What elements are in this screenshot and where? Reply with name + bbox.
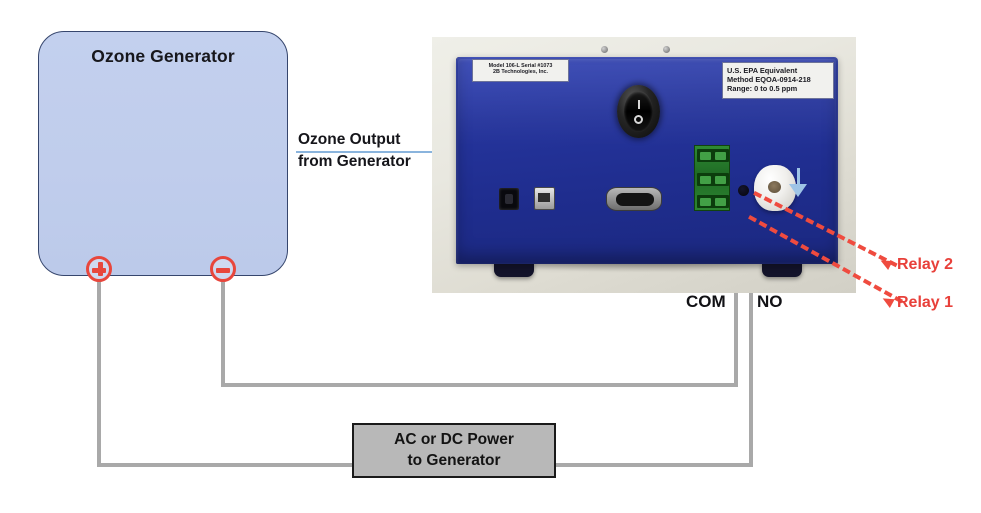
epa-label-line2: Method EQOA-0914-218	[727, 75, 829, 84]
panel-screw-hole	[738, 185, 749, 196]
relay-terminal-block	[694, 145, 730, 211]
wire-negative-horizontal	[221, 383, 738, 387]
ozone-generator-box: Ozone Generator	[38, 31, 288, 276]
relay-1-label: Relay 1	[897, 294, 953, 312]
wire-positive-vertical	[97, 280, 101, 467]
ozone-generator-title: Ozone Generator	[39, 46, 287, 67]
device-epa-label: U.S. EPA Equivalent Method EQOA-0914-218…	[722, 62, 834, 99]
plus-bar-vertical	[98, 262, 103, 276]
ozone-inlet-arrow-head	[789, 184, 807, 197]
ozone-output-line2: from Generator	[298, 151, 448, 173]
power-label-line1: AC or DC Power	[394, 430, 514, 450]
diagram-canvas: AC or DC Power to Generator Ozone Genera…	[0, 0, 981, 513]
minus-bar	[216, 268, 230, 273]
power-switch[interactable]	[617, 85, 660, 138]
wire-negative-vertical	[221, 280, 225, 387]
power-switch-on-marking	[638, 100, 640, 109]
ozone-output-line1: Ozone Output	[298, 129, 448, 151]
terminal-block-row-top	[697, 149, 729, 162]
db9-serial-port	[606, 187, 662, 211]
power-switch-off-marking	[634, 115, 643, 124]
generator-negative-terminal-icon	[210, 256, 236, 282]
com-terminal-label: COM	[686, 292, 726, 312]
epa-label-line3: Range: 0 to 0.5 ppm	[727, 84, 829, 93]
usb-b-port	[534, 187, 555, 210]
relay-2-arrowhead	[878, 256, 892, 270]
wire-no-horizontal	[552, 463, 753, 467]
device-model-label: Model 106-L Serial #1073 2B Technologies…	[472, 59, 569, 82]
epa-label-line1: U.S. EPA Equivalent	[727, 66, 829, 75]
no-terminal-label: NO	[757, 292, 783, 312]
generator-positive-terminal-icon	[86, 256, 112, 282]
serial-port-screw-right	[663, 46, 670, 53]
serial-port-screw-left	[601, 46, 608, 53]
terminal-block-row-bottom	[697, 195, 729, 208]
analyzer-photograph: Model 106-L Serial #1073 2B Technologies…	[432, 37, 856, 293]
power-label-line2: to Generator	[407, 451, 500, 471]
terminal-block-row-middle	[697, 173, 729, 186]
power-switch-rocker	[624, 91, 653, 132]
wire-positive-horizontal	[97, 463, 356, 467]
relay-2-label: Relay 2	[897, 256, 953, 274]
power-source-label-box: AC or DC Power to Generator	[352, 423, 556, 478]
model-label-line2: 2B Technologies, Inc.	[477, 69, 564, 76]
dc-power-jack	[499, 188, 519, 210]
